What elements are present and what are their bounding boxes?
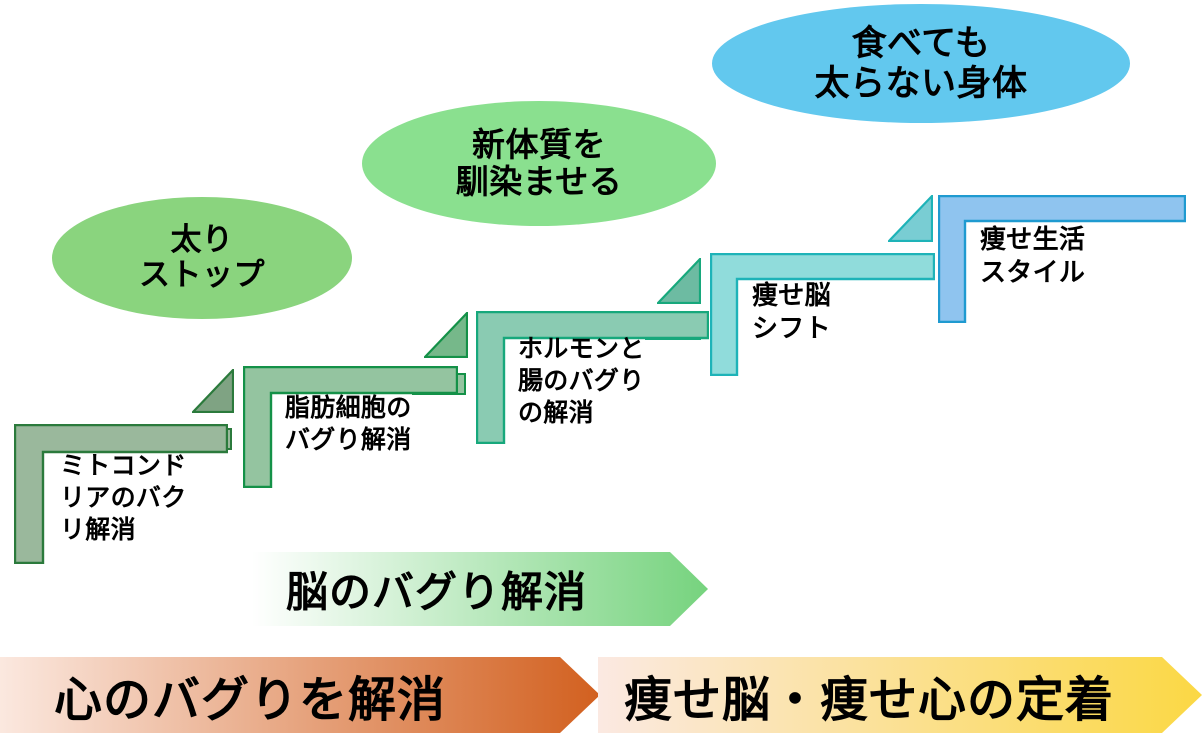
bubble-futori-stop: 太りストップ xyxy=(52,197,352,319)
step-label: 痩せ脳 シフト xyxy=(752,279,831,346)
step-mitochondria: ミトコンド リアのバク リ解消 xyxy=(14,424,228,564)
step-yase-lifestyle: 痩せ生活 スタイル xyxy=(938,195,1186,323)
bubble-line-1: 太り xyxy=(171,223,234,258)
step-label: 脂肪細胞の バグり解消 xyxy=(285,392,412,456)
bubble-line-1: 新体質を xyxy=(472,127,606,164)
banner-label: 脳のバグり解消 xyxy=(286,559,587,620)
banner-heart-bug-fix: 心のバグりを解消 xyxy=(0,657,600,733)
step-label: 痩せ生活 スタイル xyxy=(980,223,1085,290)
banner-label: 痩せ脳・痩せ心の定着 xyxy=(624,660,1114,730)
step-hormone-chou: ホルモンと 腸のバグり の解消 xyxy=(476,311,709,444)
bubble-tabetemo: 食べても太らない身体 xyxy=(712,4,1130,123)
bubble-line-2: 馴染ませる xyxy=(456,164,623,201)
ramp-4 xyxy=(888,195,933,242)
step-label: ミトコンド リアのバク リ解消 xyxy=(60,450,187,546)
banner-brain-bug-fix: 脳のバグり解消 xyxy=(252,552,708,626)
bubble-line-1: 食べても xyxy=(852,24,991,63)
step-shibousaibou: 脂肪細胞の バグり解消 xyxy=(243,366,458,488)
diagram-canvas: 太りストップ新体質を馴染ませる食べても太らない身体ミトコンド リアのバク リ解消… xyxy=(0,0,1202,756)
ramp-2 xyxy=(424,312,468,358)
step-yaseno-shift: 痩せ脳 シフト xyxy=(710,253,935,376)
step-label: ホルモンと 腸のバグり の解消 xyxy=(518,333,645,429)
ramp-3 xyxy=(657,258,701,304)
bubble-line-2: ストップ xyxy=(139,258,265,293)
banner-yase-settle: 痩せ脳・痩せ心の定着 xyxy=(598,657,1202,733)
ramp-1 xyxy=(192,369,234,413)
banner-label: 心のバグりを解消 xyxy=(54,660,446,730)
bubble-line-2: 太らない身体 xyxy=(814,64,1027,103)
bubble-shintaishitsu: 新体質を馴染ませる xyxy=(362,101,716,226)
